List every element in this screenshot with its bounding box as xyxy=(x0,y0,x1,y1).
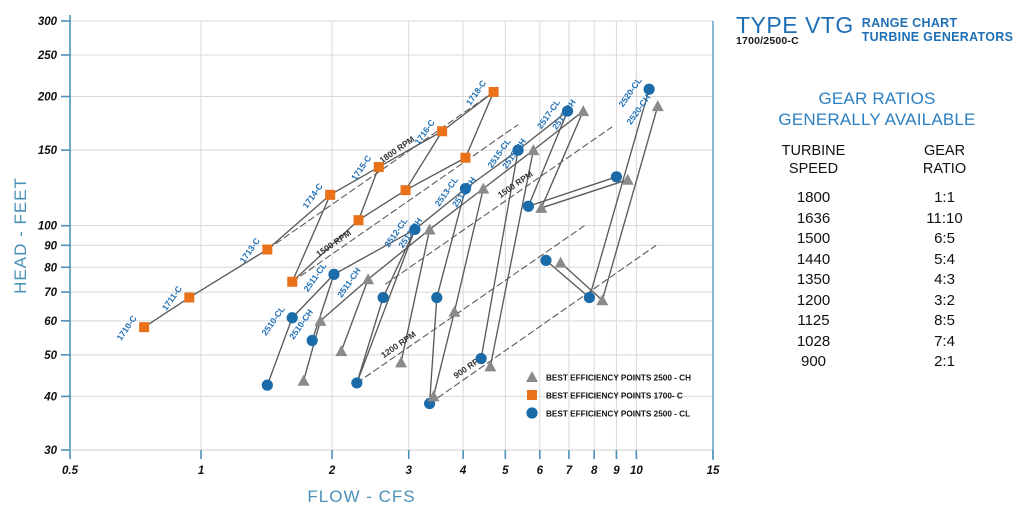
data-point-marker xyxy=(378,292,389,303)
data-point-marker xyxy=(460,153,470,163)
legend-label: BEST EFFICIENCY POINTS 1700- C xyxy=(546,392,683,401)
data-point-marker xyxy=(374,162,384,172)
rpm-label: 1200 RPM xyxy=(379,329,418,360)
legend-marker-triangle xyxy=(526,371,538,382)
table-row: 9002:1 xyxy=(748,352,1010,373)
legend-marker-circle xyxy=(526,407,537,418)
cell-gear-ratio: 2:1 xyxy=(879,352,1010,373)
data-point-marker xyxy=(476,353,487,364)
x-tick-label: 15 xyxy=(707,465,720,477)
data-point-marker xyxy=(287,277,297,287)
range-chart-line1: RANGE CHART xyxy=(862,16,1013,30)
connector-line xyxy=(541,180,627,208)
cell-gear-ratio: 11:10 xyxy=(879,209,1010,230)
data-point-marker xyxy=(354,215,364,225)
cell-turbine-speed: 1500 xyxy=(748,229,879,250)
y-tick-label: 300 xyxy=(38,16,58,28)
data-point-marker xyxy=(325,190,335,200)
turbine-speed-line2: SPEED xyxy=(748,160,879,178)
cell-gear-ratio: 1:1 xyxy=(879,188,1010,209)
x-tick-label: 8 xyxy=(591,465,598,477)
data-point-marker xyxy=(611,171,622,182)
cell-turbine-speed: 1800 xyxy=(748,188,879,209)
range-chart-line2: TURBINE GENERATORS xyxy=(862,30,1013,44)
table-header-row: TURBINE SPEED GEAR RATIO xyxy=(748,142,1010,188)
data-point-marker xyxy=(437,126,447,136)
gear-ratio-line2: RATIO xyxy=(879,160,1010,178)
legend-label: BEST EFFICIENCY POINTS 2500 - CL xyxy=(546,410,690,419)
connector-line xyxy=(434,312,455,397)
table-row: 163611:10 xyxy=(748,209,1010,230)
table-row: 15006:5 xyxy=(748,229,1010,250)
gear-ratios-heading-line1: GEAR RATIOS xyxy=(730,88,1024,109)
turbine-speed-line1: TURBINE xyxy=(748,142,879,160)
data-point-label: 1710-C xyxy=(114,314,138,343)
table-row: 11258:5 xyxy=(748,311,1010,332)
rpm-guide-lines: 1800 RPM1500 RPM1500 RPM1200 RPM900 RPM xyxy=(267,92,656,404)
connector-line xyxy=(304,321,321,381)
connector-line xyxy=(357,229,415,382)
x-axis-title: FLOW - CFS xyxy=(307,487,415,506)
data-point-marker xyxy=(484,360,496,371)
data-point-label: 1714-C xyxy=(300,181,324,210)
data-point-marker xyxy=(262,245,272,255)
title-block: TYPE VTG 1700/2500-C RANGE CHART TURBINE… xyxy=(736,12,1024,49)
data-point-marker xyxy=(351,377,362,388)
gear-ratios-body: 18001:1163611:1015006:514405:413504:3120… xyxy=(748,188,1010,373)
gear-ratio-line1: GEAR xyxy=(879,142,1010,160)
cell-gear-ratio: 7:4 xyxy=(879,332,1010,353)
data-point-marker xyxy=(477,183,489,194)
data-point-label: 1711-C xyxy=(160,284,184,312)
cell-turbine-speed: 1125 xyxy=(748,311,879,332)
cell-turbine-speed: 1028 xyxy=(748,332,879,353)
cell-gear-ratio: 8:5 xyxy=(879,311,1010,332)
column-header-turbine-speed: TURBINE SPEED xyxy=(748,142,879,188)
cell-turbine-speed: 900 xyxy=(748,352,879,373)
y-tick-label: 90 xyxy=(44,240,57,252)
data-point-marker xyxy=(401,185,411,195)
y-tick-label: 100 xyxy=(38,221,58,233)
cell-turbine-speed: 1350 xyxy=(748,270,879,291)
y-tick-label: 60 xyxy=(44,316,57,328)
data-point-marker xyxy=(362,273,374,284)
gear-ratios-heading-line2: GENERALLY AVAILABLE xyxy=(730,109,1024,130)
data-point-marker xyxy=(489,87,499,97)
data-point-marker xyxy=(584,292,595,303)
y-tick-label: 40 xyxy=(43,391,57,403)
y-tick-label: 200 xyxy=(37,92,58,104)
x-tick-label: 0.5 xyxy=(62,465,79,477)
x-tick-label: 7 xyxy=(566,465,573,477)
column-header-gear-ratio: GEAR RATIO xyxy=(879,142,1010,188)
y-tick-label: 150 xyxy=(38,145,58,157)
y-axis-ticks: 30405060708090100150200250300 xyxy=(37,16,70,457)
connector-line xyxy=(589,89,649,297)
cell-gear-ratio: 5:4 xyxy=(879,250,1010,271)
cell-turbine-speed: 1440 xyxy=(748,250,879,271)
connector-line xyxy=(528,177,616,206)
x-tick-label: 1 xyxy=(198,465,204,477)
x-tick-label: 4 xyxy=(459,465,467,477)
cell-gear-ratio: 6:5 xyxy=(879,229,1010,250)
table-row: 10287:4 xyxy=(748,332,1010,353)
data-point-marker xyxy=(328,269,339,280)
data-point-label: 2511-CL xyxy=(301,261,328,294)
data-point-marker xyxy=(395,356,407,367)
cell-turbine-speed: 1200 xyxy=(748,291,879,312)
range-chart-title: RANGE CHART TURBINE GENERATORS xyxy=(862,16,1013,44)
y-tick-label: 30 xyxy=(44,445,57,457)
cell-gear-ratio: 4:3 xyxy=(879,270,1010,291)
data-point-marker xyxy=(448,306,460,317)
data-point-marker xyxy=(644,84,655,95)
x-tick-label: 10 xyxy=(630,465,643,477)
x-tick-label: 6 xyxy=(537,465,544,477)
data-point-marker xyxy=(307,335,318,346)
y-axis-title: HEAD - FEET xyxy=(11,177,30,294)
info-panel: TYPE VTG 1700/2500-C RANGE CHART TURBINE… xyxy=(730,0,1024,522)
connector-line xyxy=(357,298,383,383)
data-point-marker xyxy=(431,292,442,303)
y-tick-label: 50 xyxy=(44,350,57,362)
data-point-marker xyxy=(577,105,589,116)
axis-titles: HEAD - FEETFLOW - CFS xyxy=(11,177,416,506)
chart-legend: BEST EFFICIENCY POINTS 2500 - CHBEST EFF… xyxy=(526,371,691,419)
y-tick-label: 80 xyxy=(44,262,57,274)
y-tick-label: 250 xyxy=(37,50,58,62)
data-point-marker xyxy=(523,201,534,212)
connector-line xyxy=(602,106,658,300)
data-point-label: 1718-C xyxy=(464,78,488,107)
data-point-marker xyxy=(555,257,567,268)
data-point-marker xyxy=(540,255,551,266)
gear-ratios-table: TURBINE SPEED GEAR RATIO 18001:1163611:1… xyxy=(748,142,1010,373)
range-chart: 304050607080901001502002503000.512345678… xyxy=(0,0,730,522)
chart-canvas: 304050607080901001502002503000.512345678… xyxy=(0,0,730,522)
table-row: 18001:1 xyxy=(748,188,1010,209)
gear-ratios-heading: GEAR RATIOS GENERALLY AVAILABLE xyxy=(730,88,1024,130)
data-point-marker xyxy=(262,380,273,391)
series-1 xyxy=(139,87,498,332)
legend-marker-square xyxy=(527,390,537,400)
legend-label: BEST EFFICIENCY POINTS 2500 - CH xyxy=(546,374,691,383)
x-tick-label: 2 xyxy=(328,465,336,477)
cell-turbine-speed: 1636 xyxy=(748,209,879,230)
data-point-marker xyxy=(335,345,347,356)
table-row: 12003:2 xyxy=(748,291,1010,312)
cell-gear-ratio: 3:2 xyxy=(879,291,1010,312)
data-point-marker xyxy=(652,100,664,111)
data-point-marker xyxy=(139,322,149,332)
data-point-marker xyxy=(184,293,194,303)
table-row: 13504:3 xyxy=(748,270,1010,291)
data-point-marker xyxy=(424,223,436,234)
x-tick-label: 3 xyxy=(406,465,413,477)
data-point-marker xyxy=(298,375,310,386)
x-tick-label: 5 xyxy=(502,465,509,477)
data-point-label: 1716-C xyxy=(412,118,436,147)
x-axis-ticks: 0.51234567891015 xyxy=(62,450,720,477)
x-tick-label: 9 xyxy=(613,465,620,477)
y-tick-label: 70 xyxy=(44,287,57,299)
table-row: 14405:4 xyxy=(748,250,1010,271)
connector-line xyxy=(561,263,603,301)
